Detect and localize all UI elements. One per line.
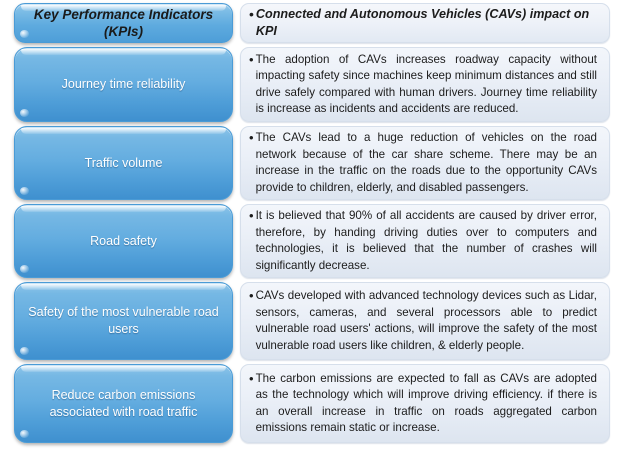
- description-cell-road-safety: • It is believed that 90% of all acciden…: [240, 204, 610, 278]
- description-text: The adoption of CAVs increases roadway c…: [256, 52, 597, 118]
- kpi-label: Road safety: [80, 233, 167, 250]
- description-text: The CAVs lead to a huge reduction of veh…: [256, 130, 597, 196]
- table-header-kpi-cell: Key Performance Indicators (KPIs): [14, 3, 233, 43]
- kpi-label: Reduce carbon emissions associated with …: [15, 387, 232, 421]
- description-text: It is believed that 90% of all accidents…: [256, 208, 597, 274]
- kpi-cell-reduce-carbon-emissions: Reduce carbon emissions associated with …: [14, 364, 233, 443]
- description-text: CAVs developed with advanced technology …: [256, 288, 597, 354]
- table-header-description-text: Connected and Autonomous Vehicles (CAVs)…: [256, 6, 597, 40]
- kpi-impact-table: Key Performance Indicators (KPIs) • Conn…: [0, 0, 617, 450]
- kpi-cell-road-safety: Road safety: [14, 204, 233, 278]
- description-cell-traffic-volume: • The CAVs lead to a huge reduction of v…: [240, 126, 610, 200]
- kpi-cell-journey-time-reliability: Journey time reliability: [14, 47, 233, 122]
- description-cell-reduce-carbon-emissions: • The carbon emissions are expected to f…: [240, 364, 610, 443]
- description-text: The carbon emissions are expected to fal…: [256, 371, 597, 437]
- table-header-kpi-label: Key Performance Indicators (KPIs): [15, 6, 232, 40]
- kpi-label: Traffic volume: [75, 155, 173, 172]
- kpi-label: Journey time reliability: [52, 76, 196, 93]
- description-cell-safety-of-most-vulnerable-road-users: • CAVs developed with advanced technolog…: [240, 282, 610, 360]
- table-header-description-cell: • Connected and Autonomous Vehicles (CAV…: [240, 3, 610, 43]
- description-cell-journey-time-reliability: • The adoption of CAVs increases roadway…: [240, 47, 610, 122]
- kpi-cell-safety-of-most-vulnerable-road-users: Safety of the most vulnerable road users: [14, 282, 233, 360]
- kpi-label: Safety of the most vulnerable road users: [15, 304, 232, 338]
- kpi-cell-traffic-volume: Traffic volume: [14, 126, 233, 200]
- bullet-icon: •: [249, 6, 256, 23]
